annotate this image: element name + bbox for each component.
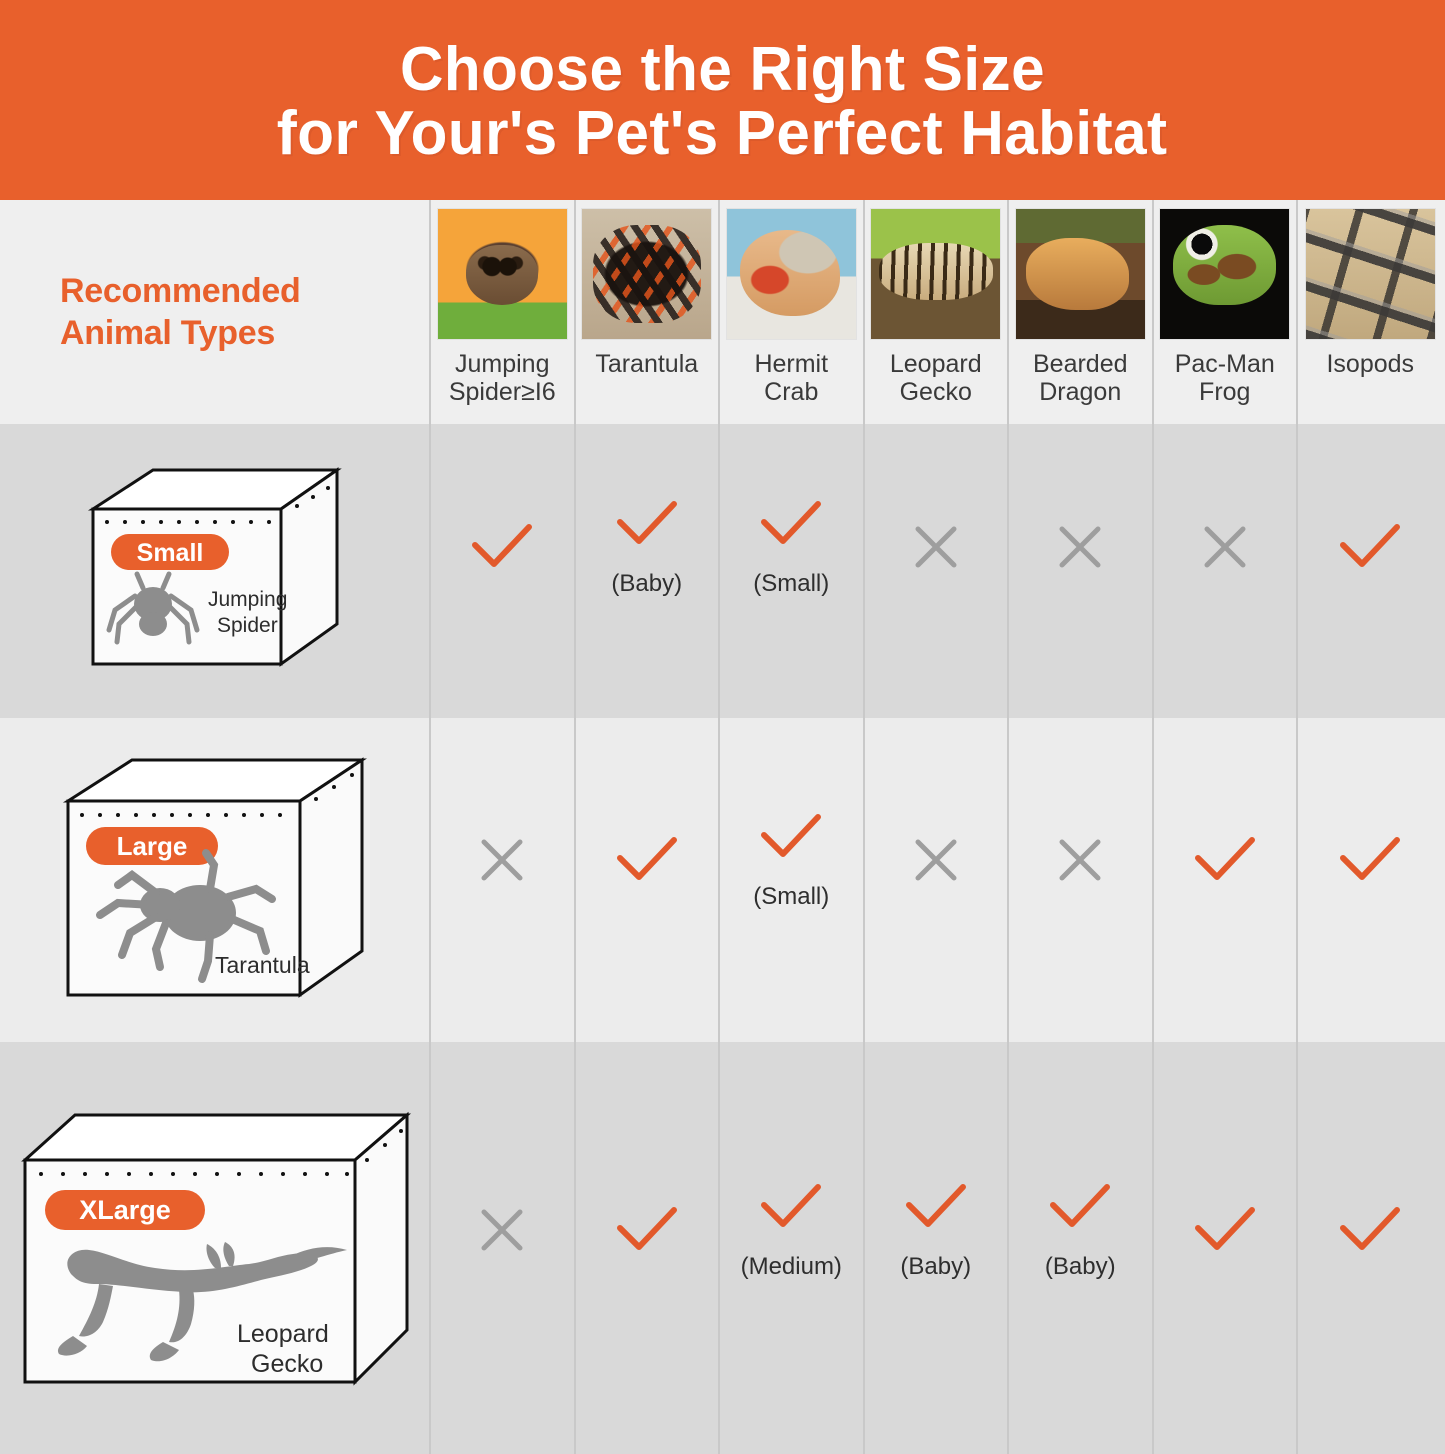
column-label-isopods: Isopods [1298, 350, 1443, 378]
column-label-pac-man-frog: Pac-Man Frog [1154, 350, 1297, 406]
column-label-bearded-dragon: Bearded Dragon [1009, 350, 1152, 406]
corner-title-line2: Animal Types [60, 312, 275, 355]
cell-large-tarantula [576, 718, 721, 1042]
cell-large-isopods [1298, 718, 1443, 1042]
large-terrarium-box: Large Tarantula [60, 753, 370, 1008]
cell-xlarge-tarantula [576, 1042, 721, 1454]
column-label-hermit-crab: Hermit Crab [720, 350, 863, 406]
small-terrarium-box: Small Jumping Spider [85, 464, 345, 679]
cell-note: (Medium) [741, 1253, 842, 1281]
column-label-tarantula: Tarantula [576, 350, 719, 378]
column-header-bearded-dragon: Bearded Dragon [1009, 200, 1154, 424]
size-cell-small: Small Jumping Spider [0, 424, 431, 718]
check-icon [1190, 1202, 1260, 1258]
check-icon [901, 1179, 971, 1235]
cell-small-jumping-spider [431, 424, 576, 718]
column-header-hermit-crab: Hermit Crab [720, 200, 865, 424]
hermit-crab-photo [726, 208, 857, 340]
size-badge-label: XLarge [79, 1195, 171, 1225]
column-label-jumping-spider: Jumping Spider≥I6 [431, 350, 574, 406]
cross-icon [1050, 832, 1110, 888]
size-cell-xlarge: XLarge Leopard Gecko [0, 1042, 431, 1454]
cross-icon [906, 519, 966, 575]
cell-large-bearded-dragon [1009, 718, 1154, 1042]
cell-xlarge-pac-man-frog [1154, 1042, 1299, 1454]
cell-small-leopard-gecko [865, 424, 1010, 718]
cell-note: (Baby) [1045, 1253, 1116, 1281]
size-badge-label: Small [136, 539, 203, 567]
cell-note: (Baby) [611, 570, 682, 598]
banner-title-line2: for Your's Pet's Perfect Habitat [277, 102, 1168, 166]
cell-xlarge-isopods [1298, 1042, 1443, 1454]
bearded-dragon-photo [1015, 208, 1146, 340]
cell-small-isopods [1298, 424, 1443, 718]
cell-small-hermit-crab: (Small) [720, 424, 865, 718]
cell-xlarge-leopard-gecko: (Baby) [865, 1042, 1010, 1454]
row-animal-label-line2: Spider [217, 614, 278, 637]
cell-large-jumping-spider [431, 718, 576, 1042]
cell-small-tarantula: (Baby) [576, 424, 721, 718]
check-icon [756, 496, 826, 552]
jumping-spider-photo [437, 208, 568, 340]
cell-note: (Small) [753, 883, 829, 911]
xlarge-terrarium-box: XLarge Leopard Gecko [15, 1098, 415, 1398]
column-header-tarantula: Tarantula [576, 200, 721, 424]
column-header-pac-man-frog: Pac-Man Frog [1154, 200, 1299, 424]
pac-man-frog-photo [1159, 208, 1290, 340]
check-icon [1335, 1202, 1405, 1258]
check-icon [1335, 519, 1405, 575]
leopard-gecko-photo [870, 208, 1001, 340]
row-animal-label-line2: Gecko [251, 1350, 323, 1378]
table-corner-header: Recommended Animal Types [0, 200, 431, 424]
check-icon [1335, 832, 1405, 888]
cell-large-pac-man-frog [1154, 718, 1299, 1042]
isopods-photo [1305, 208, 1436, 340]
table-row: XLarge Leopard Gecko [0, 1042, 1445, 1454]
cross-icon [472, 832, 532, 888]
row-animal-label: Tarantula [215, 952, 310, 978]
tarantula-photo [581, 208, 712, 340]
check-icon [756, 1179, 826, 1235]
check-icon [756, 809, 826, 865]
cell-xlarge-jumping-spider [431, 1042, 576, 1454]
size-badge-label: Large [116, 831, 187, 861]
table-row: Large Tarantula [0, 718, 1445, 1042]
banner-title-line1: Choose the Right Size [400, 38, 1045, 102]
size-cell-large: Large Tarantula [0, 718, 431, 1042]
corner-title-line1: Recommended [60, 270, 300, 313]
cell-xlarge-bearded-dragon: (Baby) [1009, 1042, 1154, 1454]
cell-note: (Small) [753, 570, 829, 598]
cell-xlarge-hermit-crab: (Medium) [720, 1042, 865, 1454]
row-animal-label-line1: Jumping [208, 588, 287, 611]
column-header-leopard-gecko: Leopard Gecko [865, 200, 1010, 424]
page-banner: Choose the Right Size for Your's Pet's P… [0, 0, 1445, 200]
table-row: Small Jumping Spider [0, 424, 1445, 718]
check-icon [467, 519, 537, 575]
size-comparison-table: Recommended Animal Types Jumping Spider≥… [0, 200, 1445, 1454]
cross-icon [1050, 519, 1110, 575]
column-header-jumping-spider: Jumping Spider≥I6 [431, 200, 576, 424]
check-icon [1045, 1179, 1115, 1235]
check-icon [612, 496, 682, 552]
cell-small-pac-man-frog [1154, 424, 1299, 718]
cross-icon [472, 1202, 532, 1258]
column-header-isopods: Isopods [1298, 200, 1443, 424]
cell-note: (Baby) [900, 1253, 971, 1281]
row-animal-label-line1: Leopard [237, 1320, 329, 1348]
check-icon [612, 832, 682, 888]
check-icon [612, 1202, 682, 1258]
column-label-leopard-gecko: Leopard Gecko [865, 350, 1008, 406]
table-header-row: Recommended Animal Types Jumping Spider≥… [0, 200, 1445, 424]
cell-large-leopard-gecko [865, 718, 1010, 1042]
cross-icon [906, 832, 966, 888]
cross-icon [1195, 519, 1255, 575]
cell-small-bearded-dragon [1009, 424, 1154, 718]
check-icon [1190, 832, 1260, 888]
cell-large-hermit-crab: (Small) [720, 718, 865, 1042]
